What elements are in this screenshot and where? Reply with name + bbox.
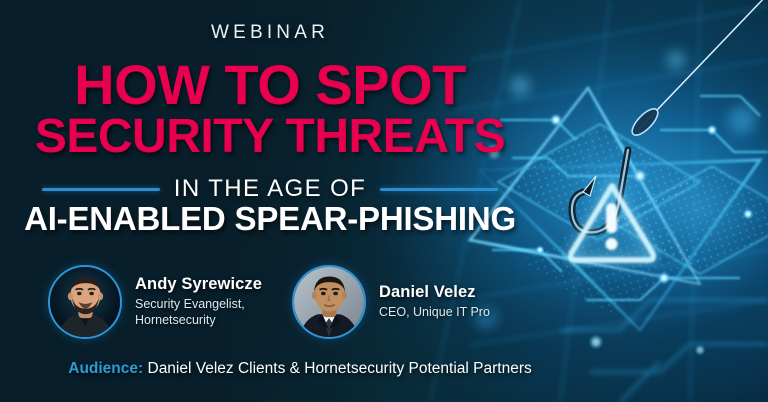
webinar-banner: WEBINAR HOW TO SPOT SECURITY THREATS IN … xyxy=(0,0,768,402)
subtitle-row: IN THE AGE OF xyxy=(0,175,540,203)
audience-text: Daniel Velez Clients & Hornetsecurity Po… xyxy=(143,360,532,377)
headline-line-3: AI-ENABLED SPEAR-PHISHING xyxy=(0,200,540,238)
speaker-name: Andy Syrewicze xyxy=(135,275,262,294)
speaker-role-line-2: Hornetsecurity xyxy=(135,313,262,329)
headline-middle: IN THE AGE OF xyxy=(174,175,366,203)
divider-rule-right xyxy=(380,188,498,191)
headline-line-1: HOW TO SPOT xyxy=(0,57,540,113)
divider-rule-left xyxy=(42,188,160,191)
audience-line: Audience: Daniel Velez Clients & Hornets… xyxy=(0,360,600,378)
speaker-card-2: Daniel Velez CEO, Unique IT Pro xyxy=(292,265,490,339)
speaker-card-1: Andy Syrewicze Security Evangelist, Horn… xyxy=(48,265,262,339)
avatar-andy-syrewicze xyxy=(48,265,122,339)
headline-line-2: SECURITY THREATS xyxy=(0,113,540,161)
avatar-daniel-velez xyxy=(292,265,366,339)
kicker-label: WEBINAR xyxy=(0,22,540,44)
speaker-role-line-1: Security Evangelist, xyxy=(135,297,262,313)
speaker-name: Daniel Velez xyxy=(379,283,490,302)
audience-label: Audience: xyxy=(68,360,143,377)
speaker-role-line-1: CEO, Unique IT Pro xyxy=(379,305,490,321)
speaker-list: Andy Syrewicze Security Evangelist, Horn… xyxy=(0,265,560,345)
